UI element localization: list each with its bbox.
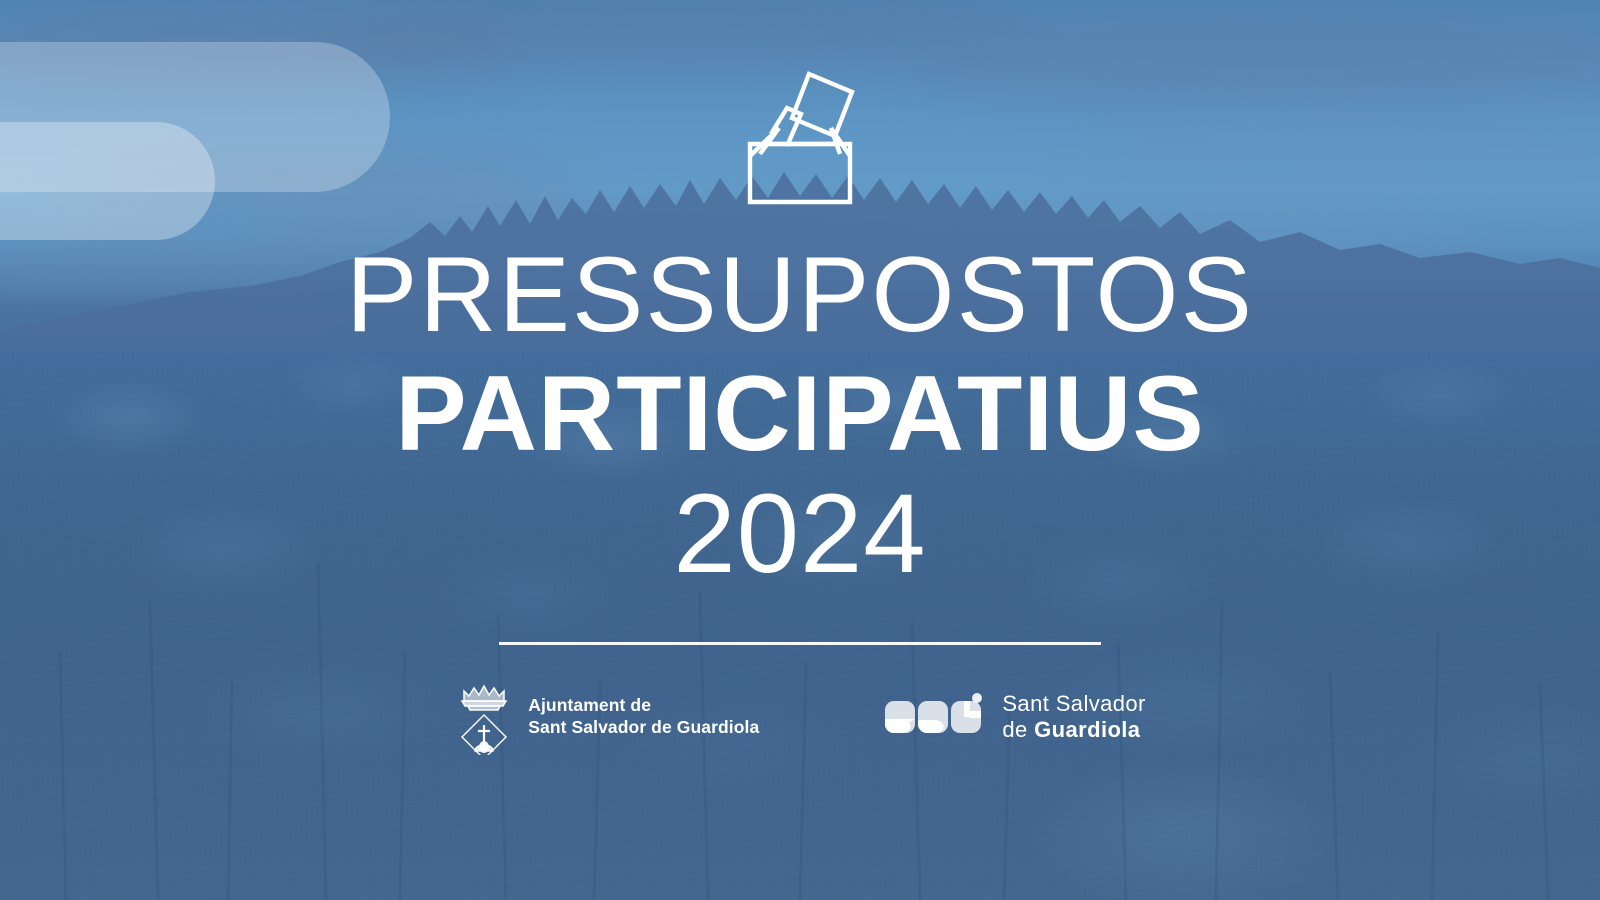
ajuntament-text: Ajuntament de Sant Salvador de Guardiola <box>528 695 759 739</box>
title-line-1: PRESSUPOSTOS <box>346 241 1254 348</box>
ballot-box-icon <box>735 62 865 207</box>
ssg-logo: Sant Salvador de Guardiola <box>885 691 1145 743</box>
poster-content: PRESSUPOSTOS PARTICIPATIUS 2024 <box>0 0 1600 900</box>
logo-row: Ajuntament de Sant Salvador de Guardiola <box>454 679 1146 755</box>
title-line-2: PARTICIPATIUS <box>346 356 1254 472</box>
divider-rule <box>499 642 1101 645</box>
ajuntament-line-1: Ajuntament de <box>528 695 759 717</box>
title-block: PRESSUPOSTOS PARTICIPATIUS 2024 <box>346 241 1254 590</box>
ajuntament-crest-icon <box>454 679 514 755</box>
ssg-text: Sant Salvador de Guardiola <box>1002 691 1145 743</box>
ssg-line-2-bold: Guardiola <box>1034 717 1140 742</box>
ajuntament-line-2: Sant Salvador de Guardiola <box>528 717 759 739</box>
ssg-monogram-icon <box>885 693 989 741</box>
title-line-3: 2024 <box>346 478 1254 590</box>
ssg-line-2: de Guardiola <box>1002 717 1145 743</box>
ajuntament-logo: Ajuntament de Sant Salvador de Guardiola <box>454 679 759 755</box>
poster-canvas: PRESSUPOSTOS PARTICIPATIUS 2024 <box>0 0 1600 900</box>
ssg-line-2-prefix: de <box>1002 717 1034 742</box>
ssg-line-1: Sant Salvador <box>1002 691 1145 717</box>
